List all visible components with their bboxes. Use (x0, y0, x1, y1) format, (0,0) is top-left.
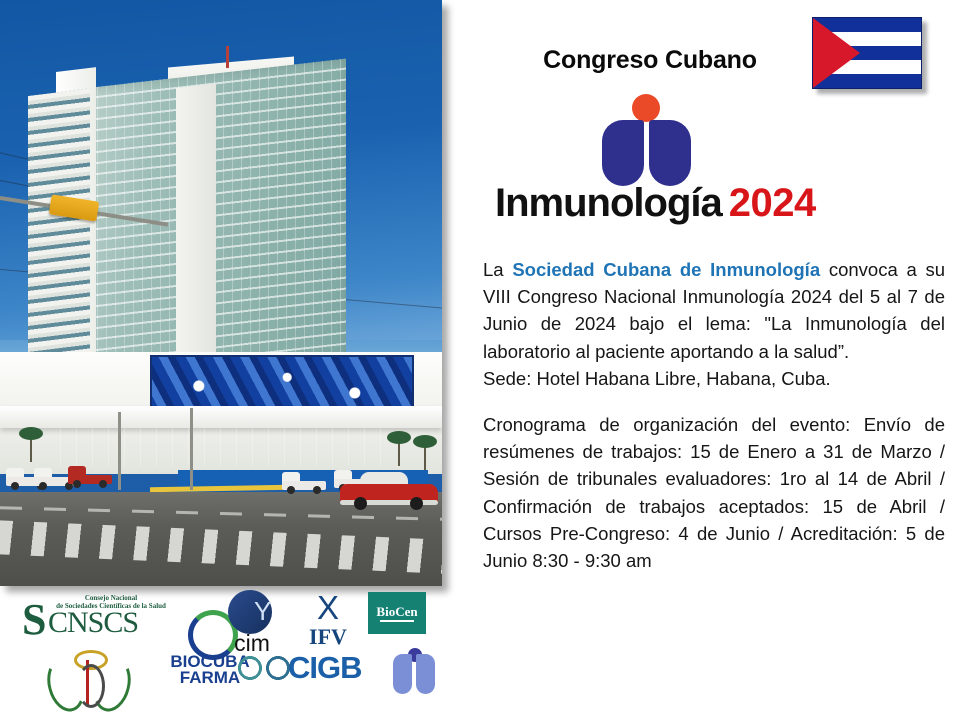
paragraph-venue: Sede: Hotel Habana Libre, Habana, Cuba. (483, 365, 945, 392)
paragraph-intro: La Sociedad Cubana de Inmunología convoc… (483, 256, 945, 365)
logo-right-petal (649, 120, 691, 186)
page-title: Congreso Cubano (500, 46, 800, 75)
traffic-signal-pole (190, 408, 193, 490)
wordmark-text: Inmunología (495, 181, 722, 225)
society-name-highlight: Sociedad Cubana de Inmunología (512, 259, 820, 280)
parked-car-3 (282, 472, 326, 490)
imm-small-right-petal (416, 654, 435, 694)
sponsor-logo-cnscs: S Consejo Nacional de Sociedades Científ… (22, 592, 162, 644)
cnscs-s-glyph: S (22, 598, 46, 642)
cnscs-subtitle-line1: Consejo Nacional (85, 594, 137, 602)
sponsor-logo-ifv: Χ IFV (292, 590, 364, 650)
paragraph-spacer (483, 392, 945, 411)
cnscs-acronym: CNSCS (48, 606, 138, 640)
biocen-label: BioCen (368, 604, 426, 620)
cuban-flag-icon (812, 17, 922, 89)
roof-antenna (226, 46, 229, 68)
flag-red-triangle (813, 18, 860, 88)
photo-canvas: habana libre (0, 0, 442, 586)
sponsor-logo-strip: S Consejo Nacional de Sociedades Científ… (0, 588, 442, 720)
announcement-body: La Sociedad Cubana de Inmunología convoc… (483, 256, 945, 574)
cigb-label: CIGB (288, 650, 362, 686)
inmunologia-logo-mark (596, 94, 696, 186)
hotel-habana-libre-photo: habana libre (0, 0, 442, 586)
wordmark-year: 2024 (729, 181, 816, 225)
palm-tree-3 (30, 436, 32, 462)
inmunologia-wordmark: Inmunología2024 (495, 181, 895, 225)
lobby-glass-facade (60, 428, 390, 466)
asclepius-snake-icon (77, 664, 105, 708)
sponsor-logo-cim: Y cim (212, 590, 292, 650)
cigb-helix-icon (236, 654, 292, 682)
ifv-label: IFV (292, 624, 364, 650)
palm-tree-1 (398, 440, 400, 466)
cim-circle-icon: Y (228, 590, 272, 634)
parked-red-truck (68, 466, 112, 484)
cim-antibody-icon: Y (254, 598, 278, 624)
sponsor-logo-inmunologia-small (392, 648, 438, 696)
logo-left-petal (602, 120, 644, 186)
classic-red-car (340, 472, 438, 508)
sponsor-logo-medical-emblem (44, 646, 132, 712)
paragraph-schedule: Cronograma de organización del evento: E… (483, 411, 945, 574)
congress-announcement-slide: habana libre (0, 0, 960, 720)
sponsor-logo-cigb: CIGB (236, 650, 384, 690)
intro-prefix: La (483, 259, 512, 280)
ifv-glyph-icon: Χ (306, 590, 350, 626)
logo-dot-icon (632, 94, 660, 122)
biocen-underline (380, 620, 414, 622)
sponsor-logo-biocen: BioCen (368, 592, 426, 634)
entrance-canopy (0, 406, 442, 428)
palm-tree-2 (424, 444, 426, 470)
imm-small-left-petal (393, 654, 412, 694)
street-pole (118, 412, 121, 490)
